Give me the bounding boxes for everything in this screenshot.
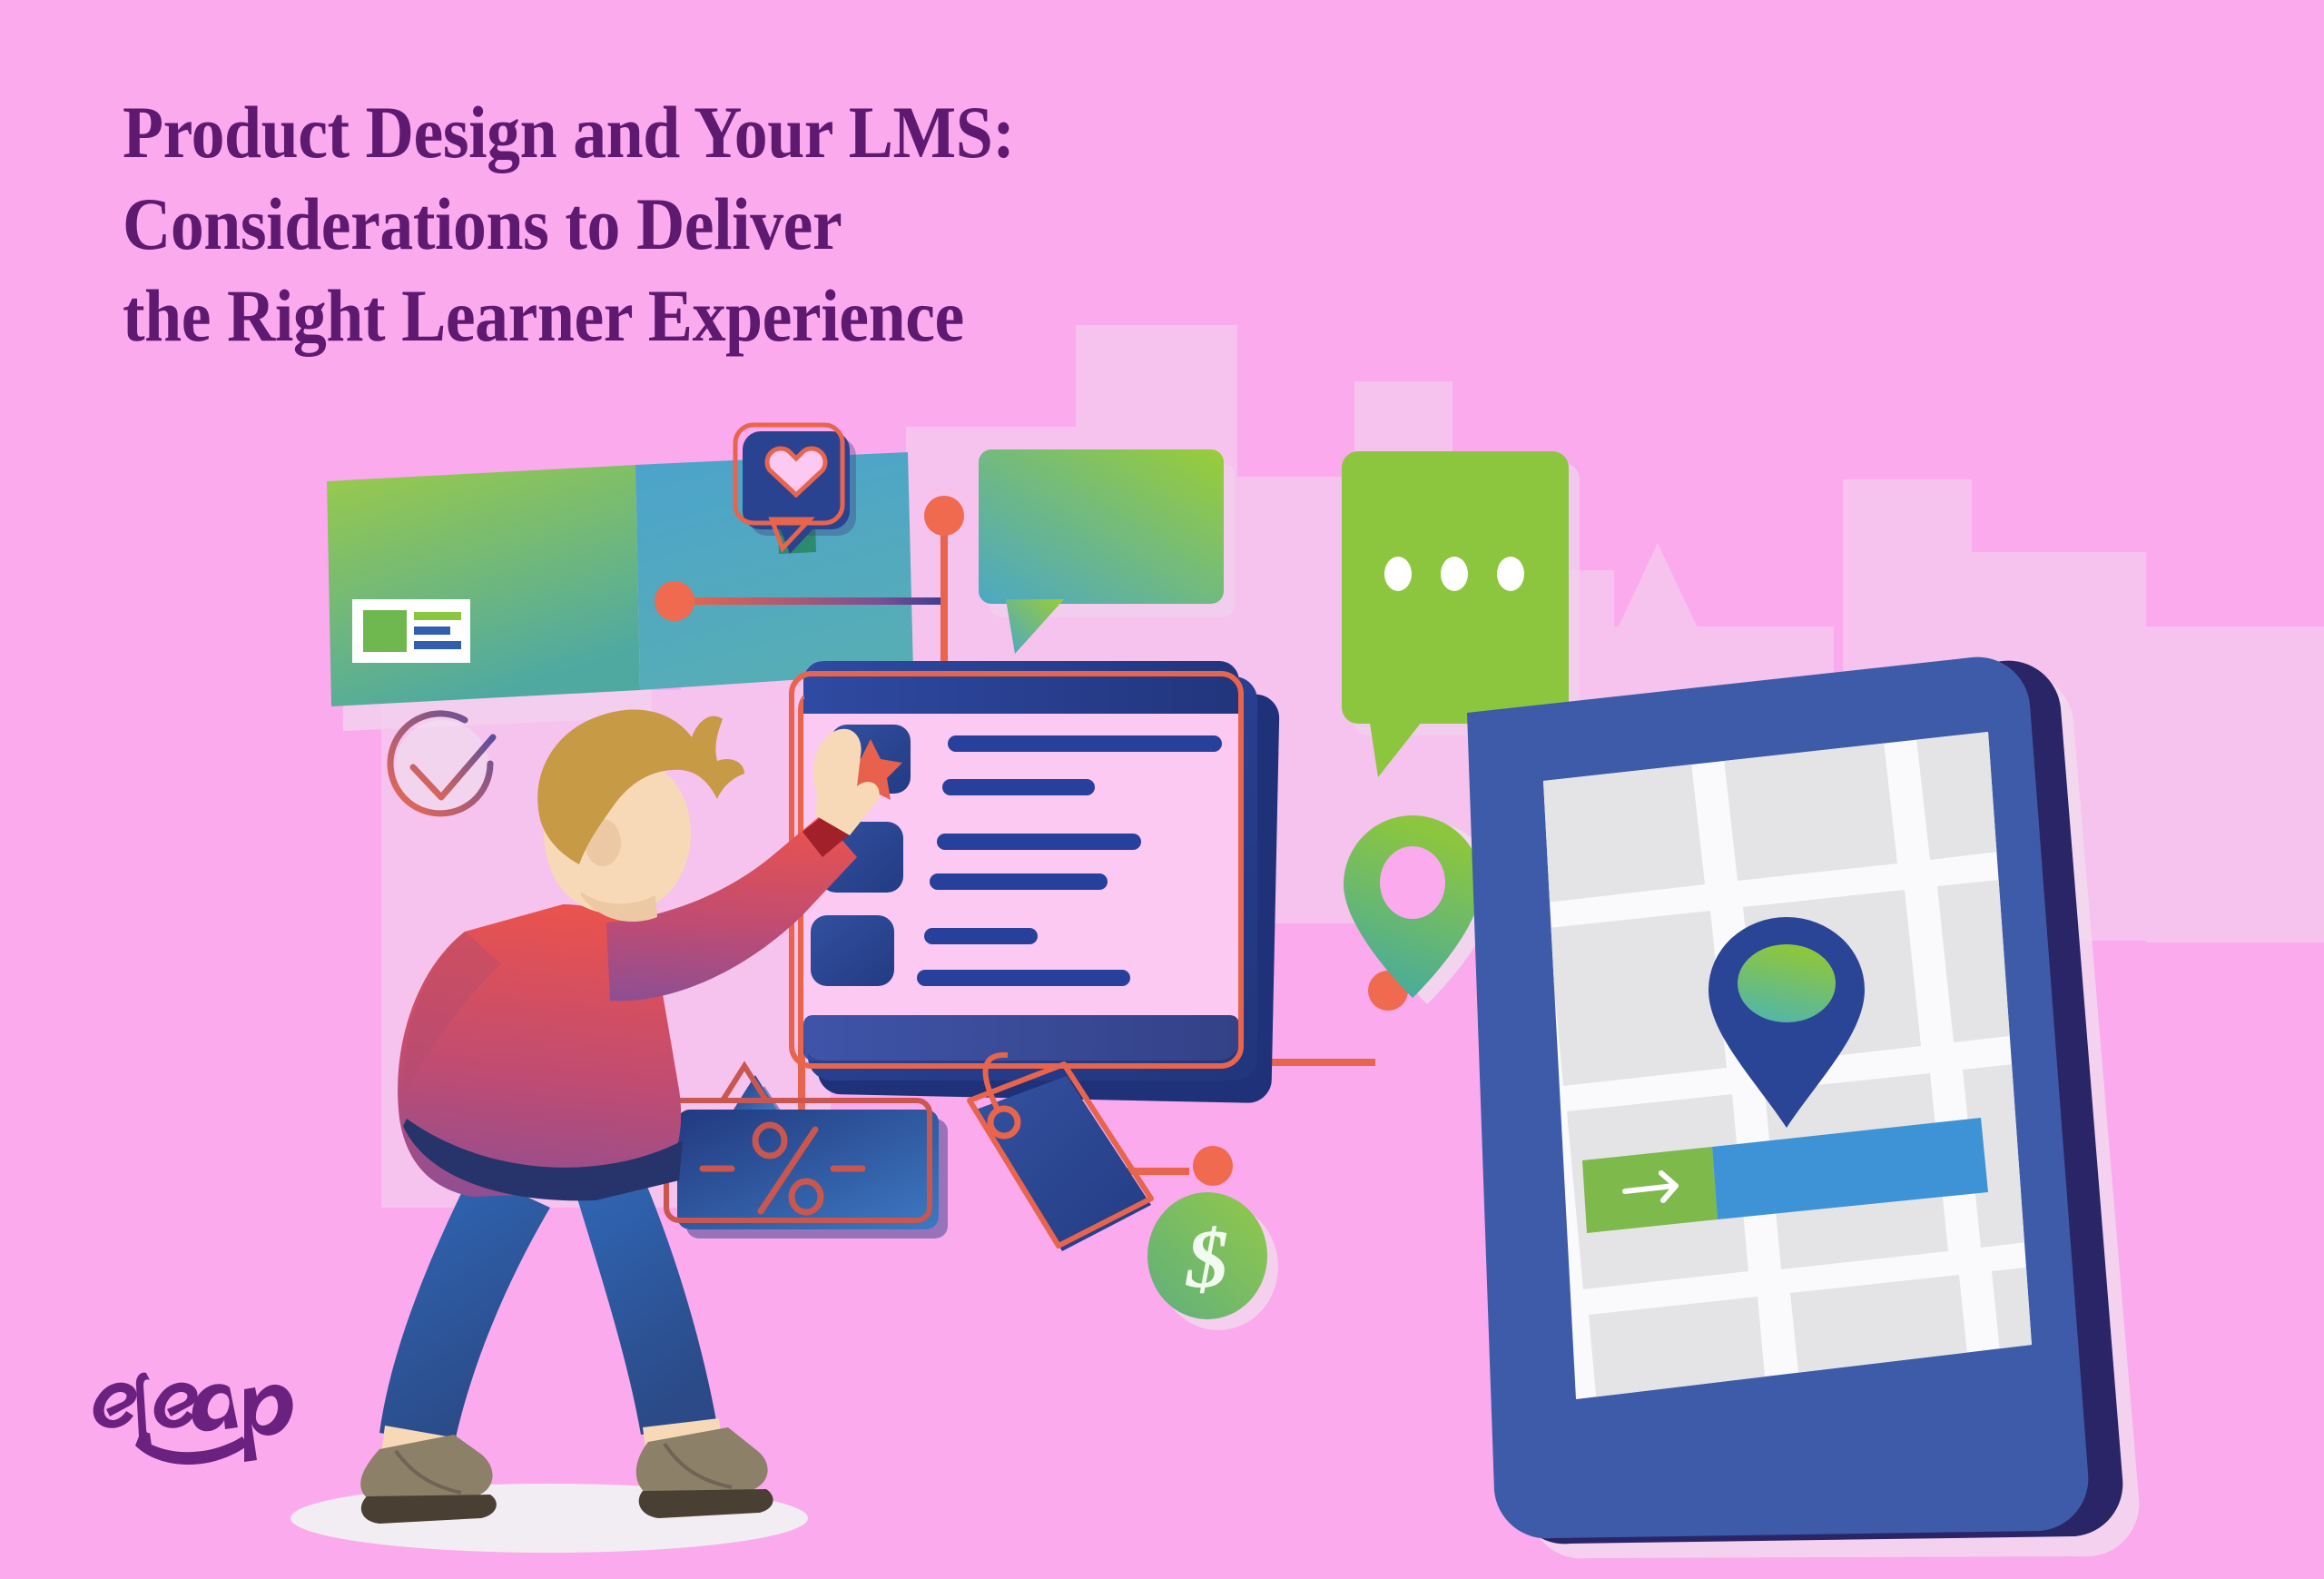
content-tile[interactable] — [811, 915, 894, 986]
banner-canvas: $ — [0, 0, 2324, 1579]
title-line-1: Product Design and Your LMS: — [123, 86, 1307, 178]
dollar-symbol: $ — [1185, 1212, 1228, 1305]
title-line-2: Considerations to Deliver — [123, 178, 1307, 270]
book-label-thumbnail — [352, 599, 470, 663]
connector-dot[interactable] — [924, 496, 964, 536]
eleap-logo[interactable] — [86, 1353, 313, 1466]
connector-dot[interactable] — [655, 581, 694, 621]
product-ui-card[interactable] — [792, 661, 1280, 1103]
eleap-logo-mark — [86, 1353, 313, 1466]
typing-dots — [1384, 557, 1524, 591]
smartphone-map-device[interactable] — [1467, 657, 2141, 1559]
page-title: Product Design and Your LMS: Considerati… — [123, 86, 1439, 361]
connector-dot[interactable] — [1193, 1146, 1233, 1186]
title-line-3: the Right Learner Experience — [123, 270, 1307, 361]
